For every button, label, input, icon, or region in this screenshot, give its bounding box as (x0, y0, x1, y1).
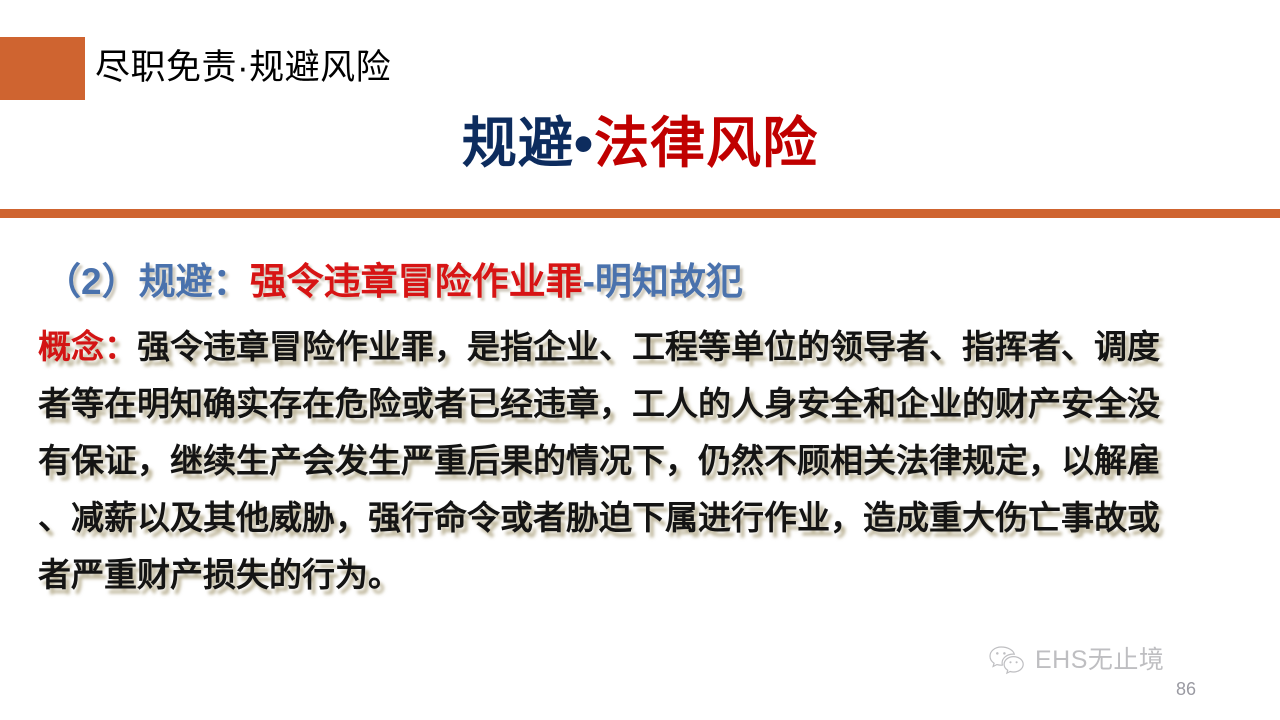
header-title: 尽职免责·规避风险 (95, 40, 391, 96)
header-accent-block (0, 37, 85, 100)
subheading-highlight: 强令违章冒险作业罪 (250, 261, 583, 302)
section-subheading: （2）规避：强令违章冒险作业罪-明知故犯 (44, 258, 743, 306)
body-line: 概念：强令违章冒险作业罪，是指企业、工程等单位的领导者、指挥者、调度 (38, 318, 1280, 375)
body-line: 、减薪以及其他威胁，强行命令或者胁迫下属进行作业，造成重大伤亡事故或 (38, 489, 1280, 546)
body-line: 者等在明知确实存在危险或者已经违章，工人的人身安全和企业的财产安全没 (38, 375, 1280, 432)
subheading-prefix: （2）规避： (44, 261, 250, 302)
body-line: 有保证，继续生产会发生严重后果的情况下，仍然不顾相关法律规定，以解雇 (38, 432, 1280, 489)
page-title: 规避•法律风险 (0, 104, 1280, 182)
page-title-blue-segment: 规避• (462, 112, 594, 174)
watermark-label: EHS无止境 (1035, 646, 1164, 674)
page-title-red-segment: 法律风险 (594, 112, 818, 174)
wechat-icon (988, 645, 1026, 675)
body-line-text: 强令违章冒险作业罪，是指企业、工程等单位的领导者、指挥者、调度 (137, 328, 1160, 365)
slide-canvas: 尽职免责·规避风险 规避•法律风险 （2）规避：强令违章冒险作业罪-明知故犯 概… (0, 0, 1280, 720)
body-lead-label: 概念： (38, 328, 137, 365)
watermark: EHS无止境 (988, 645, 1164, 675)
body-paragraph: 概念：强令违章冒险作业罪，是指企业、工程等单位的领导者、指挥者、调度 者等在明知… (38, 318, 1280, 603)
page-number: 86 (1176, 678, 1196, 700)
body-line: 者严重财产损失的行为。 (38, 546, 1280, 603)
subheading-suffix: -明知故犯 (583, 261, 743, 302)
orange-divider (0, 209, 1280, 218)
